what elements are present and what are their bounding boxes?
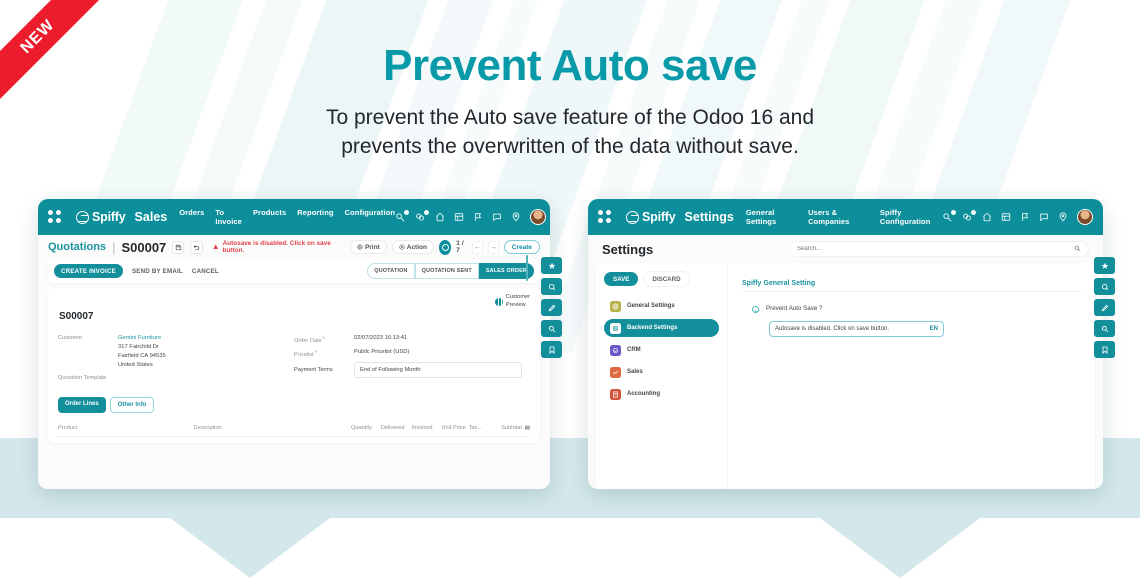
menu-item-to-invoice[interactable]: To Invoice <box>215 208 242 226</box>
field-label-customer: Customer <box>58 334 118 370</box>
payment-terms-input[interactable]: End of Following Month <box>354 362 522 378</box>
messages-icon[interactable] <box>962 212 973 223</box>
page-title: Prevent Auto save <box>0 42 1140 90</box>
grid-icon[interactable] <box>454 212 464 222</box>
home-icon[interactable] <box>435 212 445 222</box>
warning-triangle-icon: ▲ <box>212 243 220 251</box>
column-unit-price: Unit Price <box>441 425 468 431</box>
spiffy-logo[interactable]: Spiffy <box>76 210 126 224</box>
page-header: Prevent Auto save To prevent the Auto sa… <box>0 0 1140 161</box>
user-avatar[interactable] <box>1077 209 1093 225</box>
flag-icon[interactable] <box>1020 212 1030 222</box>
customer-preview-button[interactable]: Customer Preview <box>495 294 530 309</box>
sales-navbar-systray <box>395 209 546 225</box>
field-label-order-date: Order Date∗ <box>294 334 354 344</box>
customer-link[interactable]: Gemini Furniture <box>118 335 161 341</box>
status-pipeline: QUOTATION QUOTATION SENT SALES ORDER <box>367 263 534 279</box>
sidebar-item-backend-settings[interactable]: Backend Settings <box>604 319 719 337</box>
brand-name: Spiffy <box>92 210 126 224</box>
cancel-button[interactable]: CANCEL <box>192 268 219 275</box>
apps-grid-icon[interactable] <box>48 210 62 224</box>
field-label-quotation-template: Quotation Template <box>58 374 106 381</box>
sidebar-label-crm: CRM <box>627 347 641 353</box>
prevent-auto-save-checkbox[interactable] <box>752 306 759 313</box>
autosave-warning: ▲ Autosave is disabled. Click on save bu… <box>212 240 344 254</box>
save-icon[interactable] <box>172 241 184 254</box>
column-delivered: Delivered <box>381 425 412 431</box>
chat-icon[interactable] <box>492 212 502 222</box>
sheet-scroll-indicator[interactable] <box>526 255 528 281</box>
page-subtitle-line-2: prevents the overwritten of the data wit… <box>341 135 799 158</box>
field-order-date: Order Date∗ 02/07/2023 16:13:41 <box>294 334 530 344</box>
customer-preview-line-2: Preview <box>506 302 526 308</box>
column-invoiced: Invoiced <box>412 425 442 431</box>
order-lines-table-header: Product Description Quantity Delivered I… <box>58 425 530 437</box>
new-badge-label: NEW <box>17 16 58 57</box>
search-input-wrapper[interactable] <box>789 241 1089 257</box>
autosave-warning-text: Autosave is disabled. Click on save butt… <box>223 240 344 254</box>
settings-sidebar: SAVE DISCARD General Settings Backend <box>596 263 728 489</box>
page-subtitle-line-1: To prevent the Auto save feature of the … <box>326 106 814 129</box>
arrow-left-icon[interactable]: ← <box>472 241 483 254</box>
star-icon[interactable] <box>1094 257 1115 274</box>
spiffy-icon <box>610 323 621 334</box>
settings-navbar-systray <box>942 209 1093 225</box>
sidebar-item-crm[interactable]: CRM <box>604 341 719 359</box>
order-date-label-text: Order Date <box>294 338 322 344</box>
column-quantity: Quantity <box>351 425 381 431</box>
customer-preview-label: Customer Preview <box>506 294 530 309</box>
accounting-icon <box>610 389 621 400</box>
undo-icon[interactable] <box>190 241 202 254</box>
field-payment-terms: Payment Terms End of Following Month <box>294 362 530 378</box>
pricelist-label-text: Pricelist <box>294 352 314 358</box>
user-avatar[interactable] <box>530 209 546 225</box>
column-product: Product <box>58 425 194 431</box>
customer-address-line-2: Fairfield CA 94535 <box>118 353 166 359</box>
flag-icon[interactable] <box>473 212 483 222</box>
quotation-form-sheet: Customer Preview S00007 Customer Gemini … <box>48 288 540 443</box>
print-button[interactable]: Print <box>350 240 387 254</box>
form-column-right: Order Date∗ 02/07/2023 16:13:41 Pricelis… <box>294 334 530 385</box>
quotation-action-buttons: CREATE INVOICE SEND BY EMAIL CANCEL <box>54 264 219 278</box>
settings-main-pane: Spiffy General Setting Prevent Auto Save… <box>728 263 1095 489</box>
bookmark-icon[interactable] <box>541 341 562 358</box>
search-input[interactable] <box>797 246 1074 252</box>
customer-preview-line-1: Customer <box>506 294 530 300</box>
spiffy-mark-icon <box>626 211 639 224</box>
messages-icon[interactable] <box>415 212 426 223</box>
right-fab-rail <box>1094 257 1115 358</box>
apps-grid-icon[interactable] <box>598 210 612 224</box>
arrow-right-icon[interactable]: → <box>488 241 499 254</box>
chat-icon[interactable] <box>1039 212 1049 222</box>
search-icon[interactable] <box>1074 245 1081 254</box>
pencil-icon[interactable] <box>541 299 562 316</box>
magnifier-icon[interactable] <box>1094 320 1115 337</box>
sales-navbar: Spiffy Sales Orders To Invoice Products … <box>38 199 550 235</box>
settings-screenshot: Spiffy Settings General Settings Users &… <box>588 199 1103 489</box>
menu-item-spiffy-configuration[interactable]: Spiffy Configuration <box>880 208 942 226</box>
sheet-tabs: Order Lines Other Info <box>58 397 530 413</box>
control-panel-actions: Print Action 1 / 7 ← → Create <box>350 240 540 255</box>
left-fab-rail <box>541 257 562 358</box>
sidebar-item-sales[interactable]: Sales <box>604 363 719 381</box>
status-quotation[interactable]: QUOTATION <box>367 263 414 279</box>
new-badge-ribbon: NEW <box>0 0 108 108</box>
star-icon[interactable] <box>541 257 562 274</box>
action-button[interactable]: Action <box>392 240 434 254</box>
record-title: S00007 <box>59 311 530 322</box>
search-circle-icon[interactable] <box>541 278 562 295</box>
menu-item-general-settings[interactable]: General Settings <box>746 208 797 226</box>
sidebar-item-general-settings[interactable]: General Settings <box>604 297 719 315</box>
autosave-message-input[interactable]: Autosave is disabled. Click on save butt… <box>769 321 944 337</box>
language-badge[interactable]: EN <box>930 326 938 332</box>
action-label: Action <box>407 244 427 251</box>
tab-order-lines[interactable]: Order Lines <box>58 397 106 413</box>
sidebar-label-general-settings: General Settings <box>627 303 675 309</box>
field-quotation-template[interactable]: Quotation Template <box>58 374 294 381</box>
settings-navbar: Spiffy Settings General Settings Users &… <box>588 199 1103 235</box>
sidebar-label-sales: Sales <box>627 369 643 375</box>
field-value-order-date[interactable]: 02/07/2023 16:13:41 <box>354 334 407 344</box>
settings-section-heading: Spiffy General Setting <box>742 280 815 292</box>
menu-item-orders[interactable]: Orders <box>179 208 204 226</box>
field-label-payment-terms: Payment Terms <box>294 366 354 373</box>
column-tax: Tax... <box>469 425 502 431</box>
tab-other-info[interactable]: Other Info <box>110 397 155 413</box>
page-subtitle: To prevent the Auto save feature of the … <box>0 104 1140 161</box>
quotation-sheet-wrapper: CREATE INVOICE SEND BY EMAIL CANCEL QUOT… <box>38 259 550 443</box>
activities-icon[interactable] <box>942 212 953 223</box>
page-title: Settings <box>602 242 653 257</box>
gear-icon[interactable] <box>439 240 451 255</box>
pin-icon[interactable] <box>1058 212 1068 222</box>
customer-address-line-1: 317 Fairchild Dr <box>118 344 159 350</box>
pencil-icon[interactable] <box>1094 299 1115 316</box>
brand-name: Spiffy <box>642 210 676 224</box>
bookmark-icon[interactable] <box>1094 341 1115 358</box>
record-pager: 1 / 7 <box>456 240 467 254</box>
sales-icon <box>610 367 621 378</box>
gear-settings-icon <box>610 301 621 312</box>
menu-item-products[interactable]: Products <box>253 208 286 226</box>
column-options-icon[interactable]: ▤ <box>525 425 530 431</box>
settings-control-panel: Settings <box>588 235 1103 263</box>
sidebar-item-accounting[interactable]: Accounting <box>604 385 719 403</box>
quotation-form-grid: Customer Gemini Furniture 317 Fairchild … <box>58 334 530 385</box>
crm-icon <box>610 345 621 356</box>
breadcrumb-current-record: S00007 <box>121 240 166 255</box>
sales-quotation-screenshot: Spiffy Sales Orders To Invoice Products … <box>38 199 550 489</box>
search-circle-icon[interactable] <box>1094 278 1115 295</box>
prevent-auto-save-label: Prevent Auto Save ? <box>766 305 822 312</box>
send-by-email-button[interactable]: SEND BY EMAIL <box>132 268 183 275</box>
field-value-pricelist[interactable]: Public Pricelist (USD) <box>354 348 409 358</box>
quotation-statusbar: CREATE INVOICE SEND BY EMAIL CANCEL QUOT… <box>48 259 540 283</box>
spiffy-logo[interactable]: Spiffy <box>626 210 676 224</box>
sales-menu: Orders To Invoice Products Reporting Con… <box>179 208 395 226</box>
settings-menu: General Settings Users & Companies Spiff… <box>746 208 942 226</box>
home-icon[interactable] <box>982 212 992 222</box>
magnifier-icon[interactable] <box>541 320 562 337</box>
sidebar-label-accounting: Accounting <box>627 391 660 397</box>
create-button[interactable]: Create <box>504 240 540 254</box>
quotation-control-panel: Quotations | S00007 ▲ Autosave is disabl… <box>38 235 550 259</box>
sidebar-label-backend-settings: Backend Settings <box>627 325 677 331</box>
field-pricelist: Pricelist∗ Public Pricelist (USD) <box>294 348 530 358</box>
prevent-auto-save-option: Prevent Auto Save ? <box>742 305 1081 313</box>
field-value-customer: Gemini Furniture 317 Fairchild Dr Fairfi… <box>118 334 166 370</box>
globe-icon <box>495 298 503 306</box>
activities-icon[interactable] <box>395 212 406 223</box>
print-label: Print <box>365 244 380 251</box>
pin-icon[interactable] <box>511 212 521 222</box>
autosave-message-value: Autosave is disabled. Click on save butt… <box>775 326 930 332</box>
breadcrumb-separator: | <box>112 240 115 255</box>
column-description: Description <box>194 425 351 431</box>
column-subtotal: Subtotal <box>501 425 522 431</box>
menu-item-configuration[interactable]: Configuration <box>345 208 395 226</box>
customer-address-line-3: United States <box>118 362 153 368</box>
app-name: Sales <box>135 210 168 224</box>
discard-button[interactable]: DISCARD <box>643 271 689 287</box>
save-button[interactable]: SAVE <box>604 272 638 286</box>
settings-save-actions: SAVE DISCARD <box>604 271 719 287</box>
grid-icon[interactable] <box>1001 212 1011 222</box>
app-name: Settings <box>685 210 734 224</box>
spiffy-mark-icon <box>76 211 89 224</box>
breadcrumb-quotations[interactable]: Quotations <box>48 241 106 253</box>
status-quotation-sent[interactable]: QUOTATION SENT <box>415 263 479 279</box>
create-invoice-button[interactable]: CREATE INVOICE <box>54 264 123 278</box>
screenshot-gallery: Spiffy Sales Orders To Invoice Products … <box>0 199 1140 499</box>
settings-body: SAVE DISCARD General Settings Backend <box>596 263 1095 489</box>
menu-item-users-companies[interactable]: Users & Companies <box>808 208 869 226</box>
menu-item-reporting[interactable]: Reporting <box>297 208 333 226</box>
field-label-pricelist: Pricelist∗ <box>294 348 354 358</box>
field-customer: Customer Gemini Furniture 317 Fairchild … <box>58 334 294 370</box>
form-column-left: Customer Gemini Furniture 317 Fairchild … <box>58 334 294 385</box>
